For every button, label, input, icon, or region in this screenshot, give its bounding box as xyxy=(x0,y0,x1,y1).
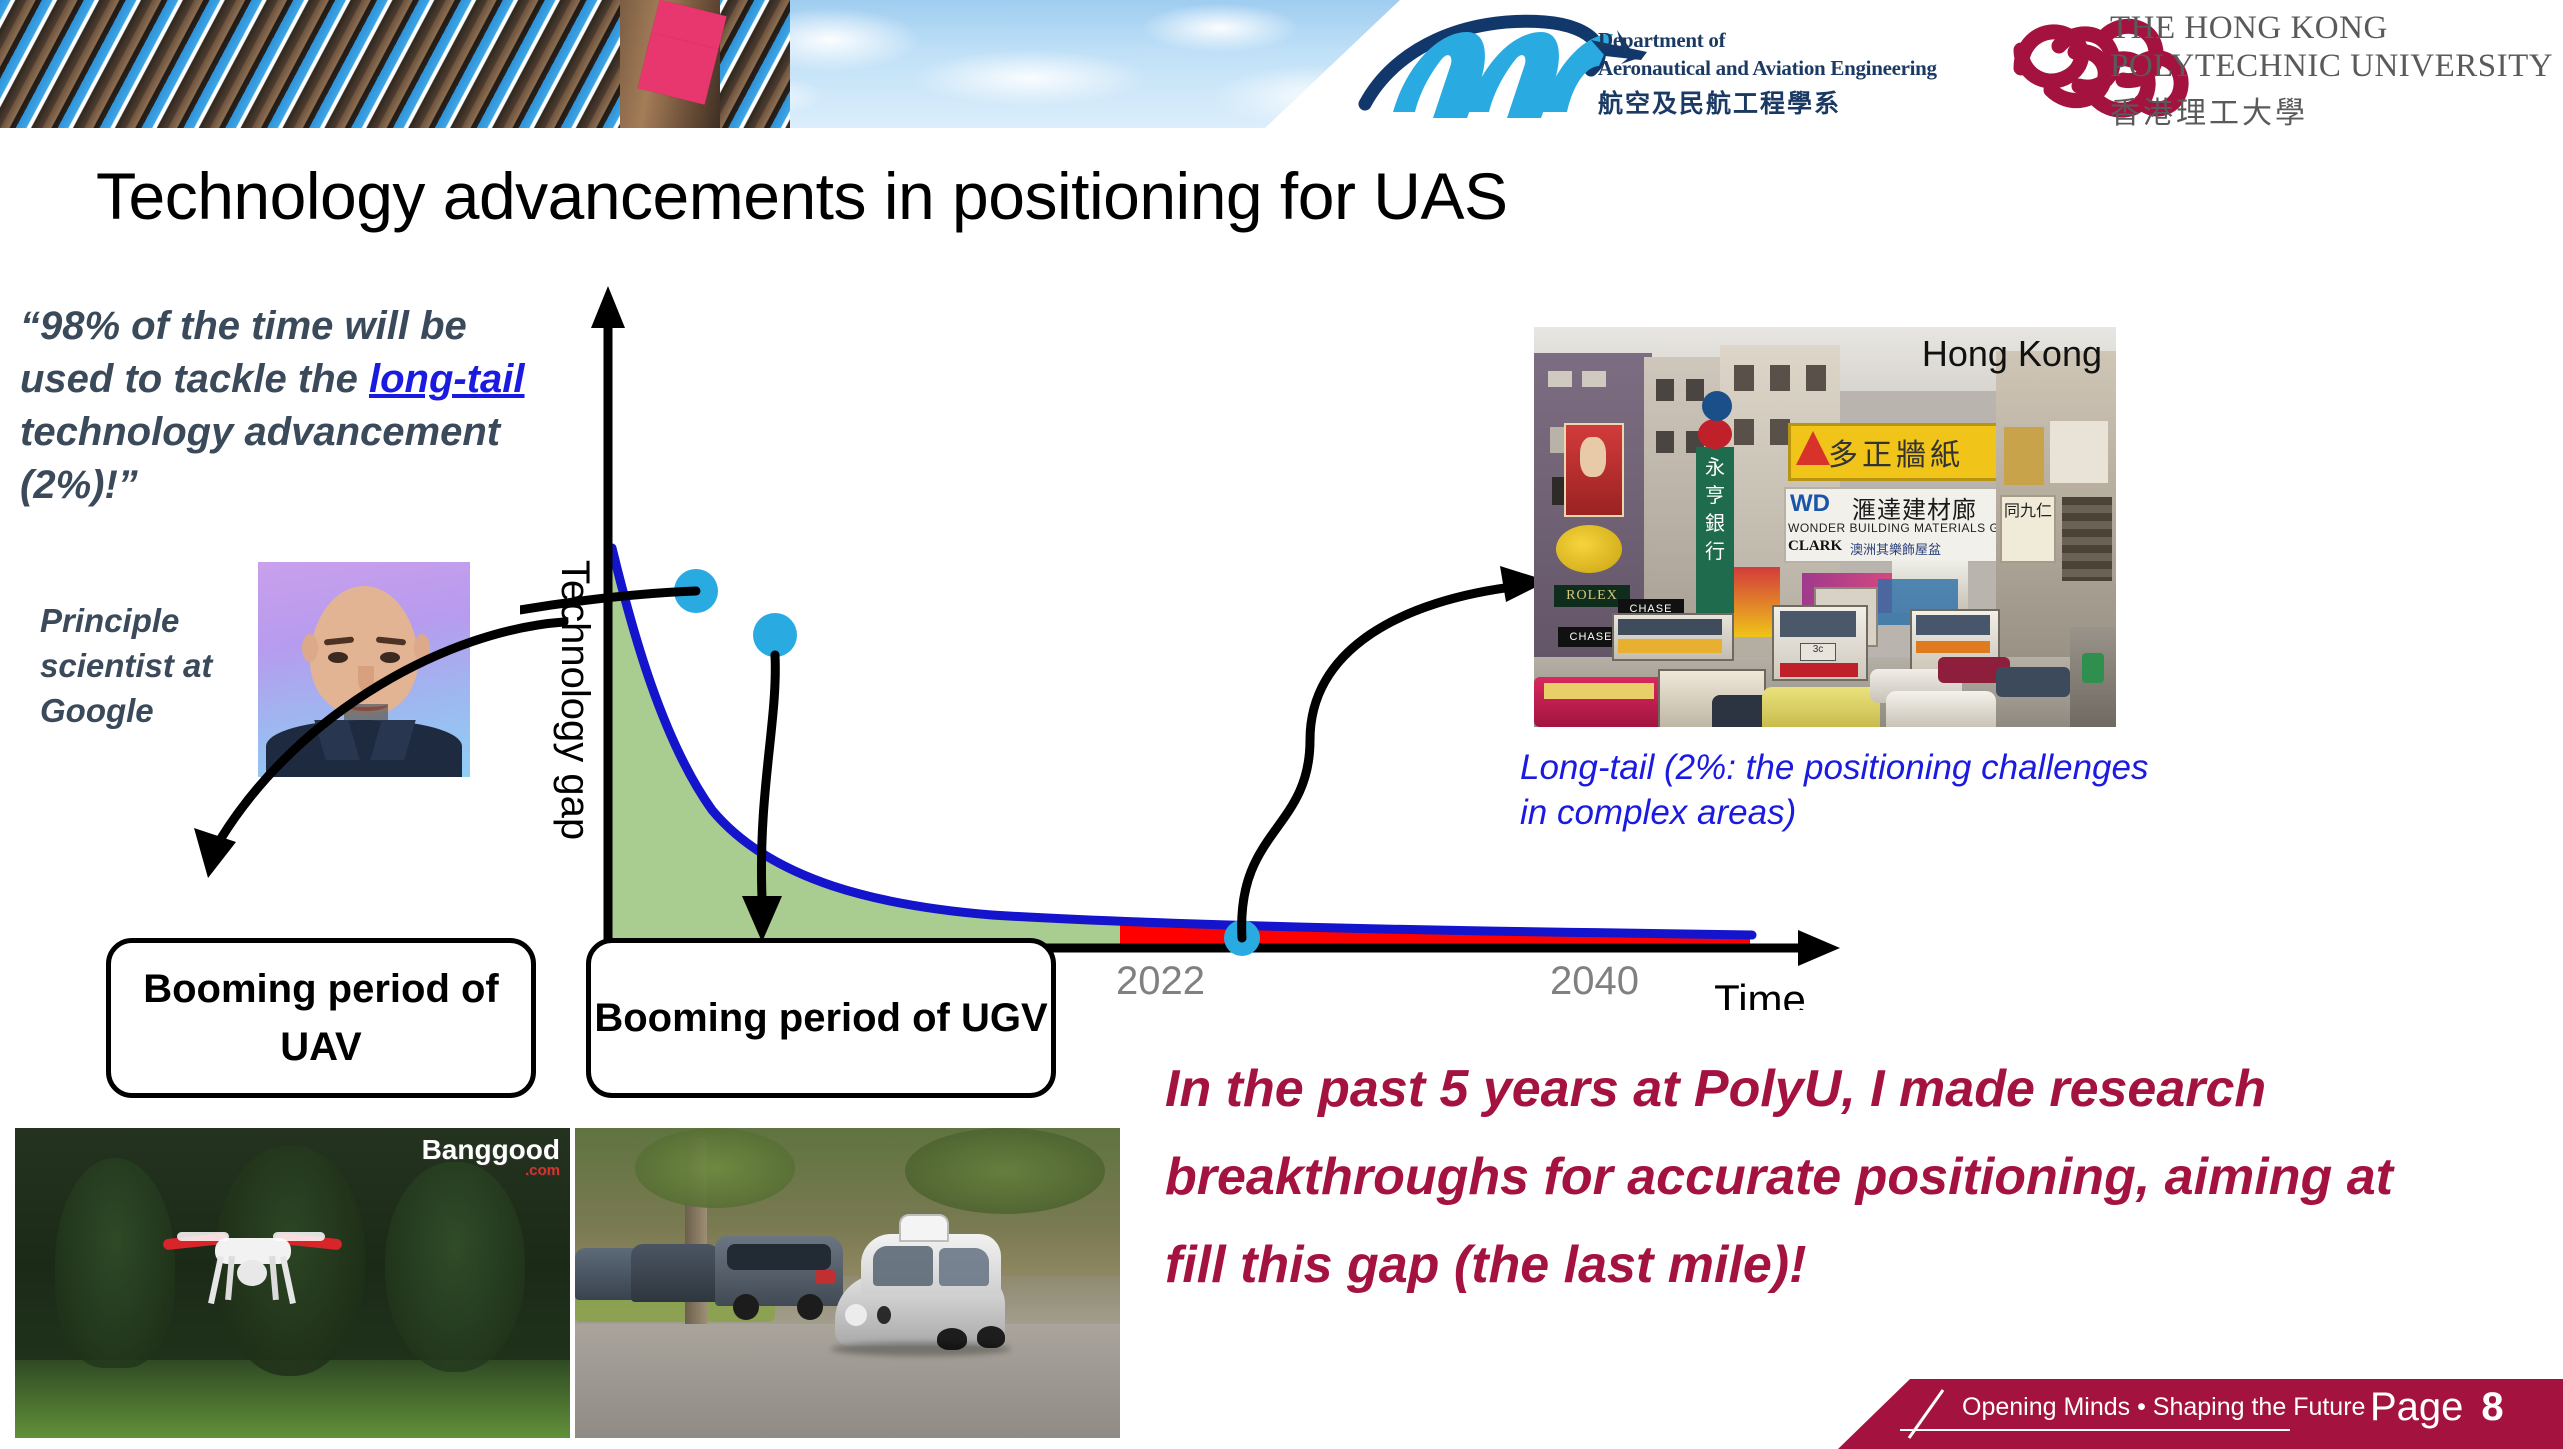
selfdriving-car-lidar-icon xyxy=(899,1214,949,1242)
hk-sign-bank-logo-icon xyxy=(1698,419,1732,449)
hk-sign-light xyxy=(2050,421,2108,483)
hk-window xyxy=(1770,365,1790,391)
hk-poster-face xyxy=(1580,437,1606,477)
hk-sign-wd-chinese: 滙達建材廊 xyxy=(1852,490,1977,525)
hk-car-yellow xyxy=(1762,687,1880,727)
ugv-suv-taillight xyxy=(815,1270,835,1284)
chart-region-booming-green xyxy=(608,552,1120,948)
banner-clouds xyxy=(700,0,1400,128)
quote-part2: technology advancement (2%)!” xyxy=(20,410,500,507)
drone-camera-gimbal xyxy=(237,1260,267,1286)
ugv-suv-wheel xyxy=(733,1294,759,1320)
google-quote: “98% of the time will be used to tackle … xyxy=(20,300,540,512)
hk-window xyxy=(1582,371,1606,387)
university-name-line1: THE HONG KONG xyxy=(2110,10,2388,47)
hk-bus-number: 3c xyxy=(1800,643,1836,661)
arrow-quote-to-uav-box xyxy=(150,560,570,960)
hk-bus-window xyxy=(1618,619,1722,635)
callout-booming-ugv[interactable]: Booming period of UGV xyxy=(586,938,1056,1098)
university-name-chinese: 香港理工大學 xyxy=(2110,88,2308,132)
quote-longtail-link[interactable]: long-tail xyxy=(369,357,525,401)
chart-xtick-2022: 2022 xyxy=(1116,959,1205,1003)
arrow-longtail-to-hongkong xyxy=(1242,566,1548,938)
aae-dept-line1: Department of xyxy=(1598,26,1938,54)
ugv-suv-windows xyxy=(727,1244,831,1270)
banner-sky-photo: ████ xyxy=(0,0,1400,128)
hk-window xyxy=(1806,365,1826,391)
uav-drone-photo: Banggood .com xyxy=(15,1128,570,1438)
selfdriving-car-headlight xyxy=(845,1304,867,1326)
footer-page-number: 8 xyxy=(2481,1385,2503,1429)
hk-sign-yellow-round xyxy=(1556,525,1622,573)
slide-title: Technology advancements in positioning f… xyxy=(96,158,1508,234)
ugv-photo-foliage xyxy=(905,1128,1105,1214)
callout-booming-uav[interactable]: Booming period of UAV xyxy=(106,938,536,1098)
ugv-suv-wheel xyxy=(797,1294,823,1320)
hk-window xyxy=(1734,365,1754,391)
hk-vehicle-canopy xyxy=(1544,683,1654,699)
hk-bus-stripe xyxy=(1916,641,1990,653)
hong-kong-street-photo: 永亨銀行 多正牆紙 WD 滙達建材廊 WONDER BUILDING MATER… xyxy=(1534,327,2116,727)
drone-rotor-left xyxy=(177,1232,229,1241)
hk-van-white xyxy=(1886,691,1996,727)
uav-photo-tree xyxy=(55,1158,175,1368)
aae-department-chinese: 航空及民航工程學系 xyxy=(1598,84,1841,120)
hk-window xyxy=(1656,431,1674,453)
selfdriving-car-side-window xyxy=(939,1248,989,1286)
university-name-line2: POLYTECHNIC UNIVERSITY xyxy=(2110,48,2553,85)
footer-tagline: Opening Minds • Shaping the Future xyxy=(1962,1393,2365,1422)
hk-window xyxy=(1686,379,1704,401)
arrow-ugv-callout xyxy=(742,655,782,942)
callout-ugv-label: Booming period of UGV xyxy=(594,989,1047,1047)
hk-sign-clark-chinese: 澳洲其樂飾屋盆 xyxy=(1850,539,1941,558)
chart-marker-ugv[interactable] xyxy=(753,613,797,657)
banggood-brand-text: Banggood xyxy=(422,1134,560,1165)
polyu-research-statement: In the past 5 years at PolyU, I made res… xyxy=(1165,1045,2465,1309)
hk-traffic-light-icon xyxy=(2082,653,2104,683)
selfdriving-car-sensor xyxy=(877,1306,891,1324)
drone-rotor-right xyxy=(273,1232,325,1241)
chart-x-axis-label: Time xyxy=(1714,976,1806,1010)
hk-bus-stripe xyxy=(1618,639,1722,653)
hk-sign-amber xyxy=(2004,427,2044,485)
footer-underline xyxy=(1900,1429,2290,1431)
hk-sign-wd-mark: WD xyxy=(1790,490,1850,518)
hk-sign-clark: CLARK xyxy=(1788,538,1842,555)
footer-page-label: Page xyxy=(2370,1385,2463,1429)
aae-dept-line2: Aeronautical and Aviation Engineering xyxy=(1598,54,1938,82)
chart-xtick-2040: 2040 xyxy=(1550,959,1639,1003)
aae-department-name: Department of Aeronautical and Aviation … xyxy=(1598,26,1938,82)
hk-truck-window xyxy=(1780,611,1856,637)
hk-window xyxy=(1548,371,1572,387)
uav-photo-tree xyxy=(385,1162,525,1372)
hk-sign-round-blue xyxy=(1702,391,1732,421)
ugv-photo-foliage xyxy=(635,1128,795,1208)
ugv-parked-car-2 xyxy=(631,1244,721,1302)
hk-sign-bank: 永亨銀行 xyxy=(1696,447,1734,613)
hong-kong-label: Hong Kong xyxy=(1922,333,2102,375)
footer-slash-icon xyxy=(1905,1386,1947,1442)
hk-car-blue xyxy=(1996,667,2070,697)
hk-sign-right-chinese: 同九仁 xyxy=(2000,495,2056,563)
callout-uav-label: Booming period of UAV xyxy=(111,960,531,1076)
footer-page-indicator: Page8 xyxy=(2370,1385,2504,1430)
hk-window xyxy=(1770,419,1790,445)
hk-window xyxy=(1656,379,1674,401)
long-tail-caption: Long-tail (2%: the positioning challenge… xyxy=(1520,745,2160,835)
hk-truck-stripe xyxy=(1780,663,1858,677)
selfdriving-car-windshield xyxy=(873,1246,933,1286)
ugv-selfdriving-car-photo xyxy=(575,1128,1120,1438)
hk-bus-window xyxy=(1916,615,1990,635)
hk-scaffolding xyxy=(2062,497,2112,581)
selfdriving-car-shadow xyxy=(831,1342,1011,1356)
banggood-watermark: Banggood .com xyxy=(422,1134,560,1179)
hk-window xyxy=(1734,419,1754,445)
slide-canvas: ████ Department of Aeronautical and Avia… xyxy=(0,0,2563,1449)
